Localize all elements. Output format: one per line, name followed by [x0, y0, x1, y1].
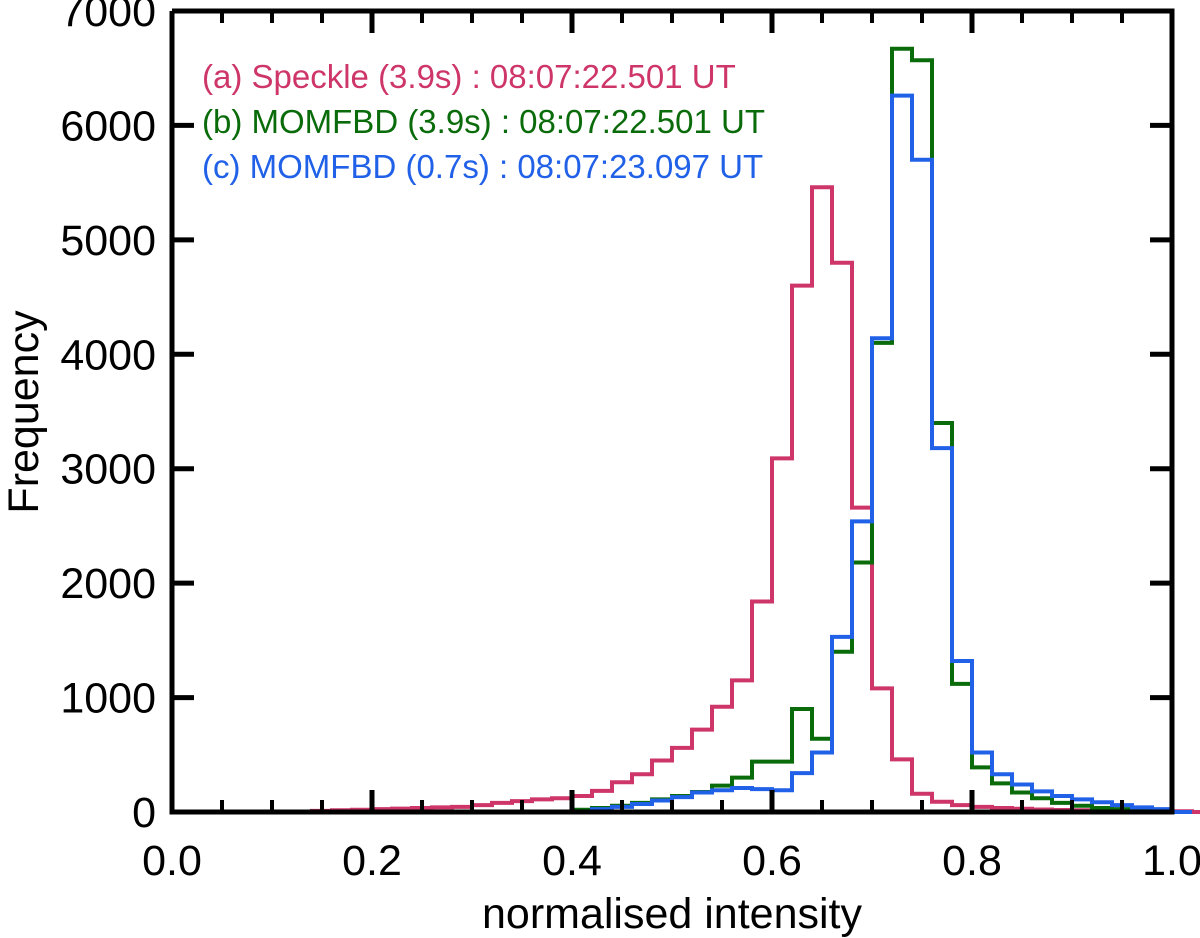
histogram-plot: 0.00.20.40.60.81.0 010002000300040005000… — [0, 0, 1200, 938]
y-tick-label: 1000 — [60, 675, 156, 723]
legend-entry-3: (c) MOMFBD (0.7s) : 08:07:23.097 UT — [202, 148, 763, 185]
y-tick-label: 2000 — [60, 560, 156, 608]
y-tick-labels: 01000200030004000500060007000 — [60, 0, 156, 837]
histogram-series-1 — [312, 187, 1200, 812]
y-tick-label: 0 — [132, 789, 156, 837]
x-tick-label: 0.8 — [942, 837, 1002, 885]
x-tick-label: 0.0 — [142, 837, 202, 885]
x-tick-labels: 0.00.20.40.60.81.0 — [142, 837, 1200, 885]
y-axis-title: Frequency — [0, 310, 48, 514]
legend-entry-1: (a) Speckle (3.9s) : 08:07:22.501 UT — [202, 58, 736, 95]
y-tick-label: 6000 — [60, 102, 156, 150]
y-tick-label: 5000 — [60, 217, 156, 265]
x-axis-title: normalised intensity — [482, 890, 863, 938]
chart-figure: 0.00.20.40.60.81.0 010002000300040005000… — [0, 0, 1200, 938]
legend-entry-2: (b) MOMFBD (3.9s) : 08:07:22.501 UT — [202, 103, 765, 140]
y-tick-label: 7000 — [60, 0, 156, 36]
x-tick-label: 0.4 — [542, 837, 602, 885]
x-tick-label: 1.0 — [1142, 837, 1200, 885]
legend: (a) Speckle (3.9s) : 08:07:22.501 UT(b) … — [202, 58, 765, 185]
y-tick-label: 4000 — [60, 331, 156, 379]
x-tick-label: 0.6 — [742, 837, 802, 885]
y-tick-label: 3000 — [60, 446, 156, 494]
x-tick-label: 0.2 — [342, 837, 402, 885]
